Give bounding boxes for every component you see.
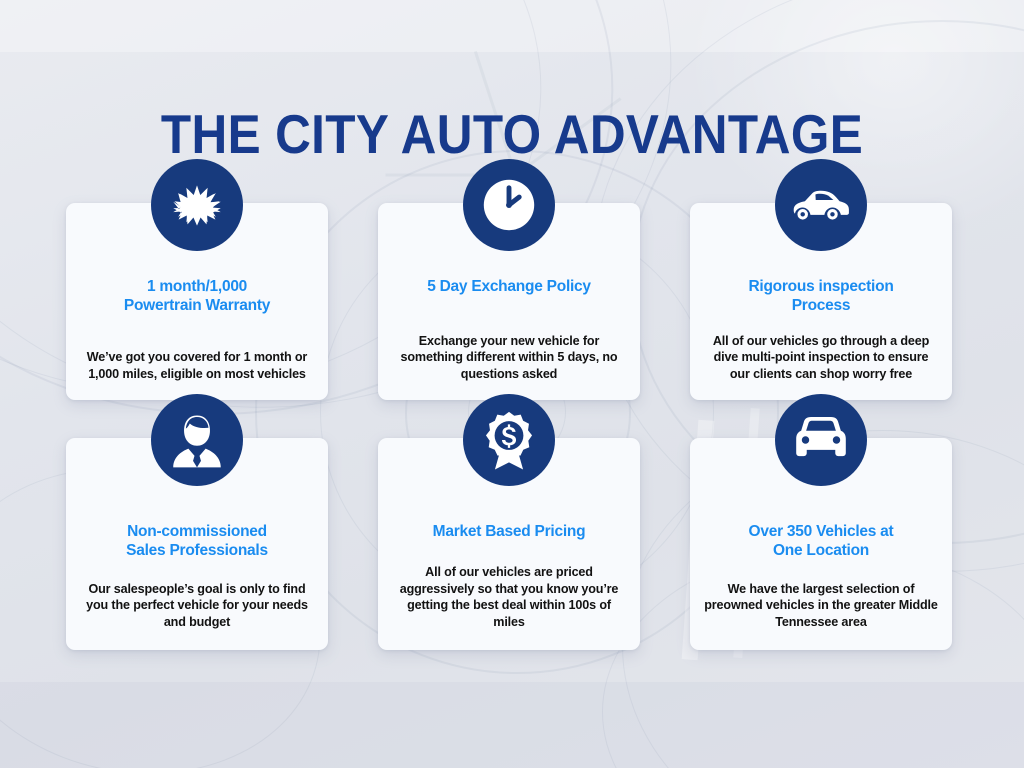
- card-body-text: We have the largest selection of preowne…: [704, 581, 938, 631]
- card-headline: Market Based Pricing: [392, 522, 626, 541]
- car-front-icon: [775, 394, 867, 486]
- starburst-icon: [151, 159, 243, 251]
- card-body-text: All of our vehicles go through a deep di…: [704, 333, 938, 383]
- card-headline-line1: Market Based Pricing: [433, 523, 586, 540]
- page-title: THE CITY AUTO ADVANTAGE: [51, 105, 973, 163]
- clock-icon: [463, 159, 555, 251]
- card-headline: Non-commissionedSales Professionals: [80, 522, 314, 560]
- infographic-canvas: THE CITY AUTO ADVANTAGE 1 month/1,000Pow…: [0, 0, 1024, 768]
- advantage-card-market-based-pricing[interactable]: Market Based Pricing All of our vehicles…: [378, 438, 640, 650]
- card-headline-line2: Sales Professionals: [126, 542, 268, 559]
- advantage-card-exchange-policy[interactable]: 5 Day Exchange Policy Exchange your new …: [378, 203, 640, 400]
- background-band-bottom: [0, 682, 1024, 768]
- background-band-top: [0, 0, 1024, 52]
- advantage-card-non-commissioned-sales[interactable]: Non-commissionedSales Professionals Our …: [66, 438, 328, 650]
- card-headline-line1: 1 month/1,000: [147, 278, 247, 295]
- card-headline-line2: One Location: [773, 542, 869, 559]
- card-headline: 5 Day Exchange Policy: [392, 277, 626, 296]
- card-headline-line1: 5 Day Exchange Policy: [427, 278, 591, 295]
- card-headline: Rigorous inspectionProcess: [704, 277, 938, 315]
- card-headline-line1: Rigorous inspection: [748, 278, 893, 295]
- salesperson-icon: [151, 394, 243, 486]
- card-headline: 1 month/1,000Powertrain Warranty: [80, 277, 314, 315]
- card-headline-line2: Powertrain Warranty: [124, 297, 270, 314]
- card-body-text: Exchange your new vehicle for something …: [392, 333, 626, 383]
- advantage-card-inspection-process[interactable]: Rigorous inspectionProcess All of our ve…: [690, 203, 952, 400]
- card-headline-line1: Over 350 Vehicles at: [749, 523, 894, 540]
- card-headline: Over 350 Vehicles atOne Location: [704, 522, 938, 560]
- advantage-card-grid: 1 month/1,000Powertrain Warranty We’ve g…: [66, 203, 978, 650]
- car-side-icon: [775, 159, 867, 251]
- card-body-text: All of our vehicles are priced aggressiv…: [392, 564, 626, 630]
- dollar-award-badge-icon: [463, 394, 555, 486]
- advantage-card-powertrain-warranty[interactable]: 1 month/1,000Powertrain Warranty We’ve g…: [66, 203, 328, 400]
- card-headline-line1: Non-commissioned: [127, 523, 267, 540]
- card-body-text: Our salespeople’s goal is only to find y…: [80, 581, 314, 631]
- advantage-card-vehicle-inventory[interactable]: Over 350 Vehicles atOne Location We have…: [690, 438, 952, 650]
- card-body-text: We’ve got you covered for 1 month or 1,0…: [80, 349, 314, 382]
- card-headline-line2: Process: [792, 297, 851, 314]
